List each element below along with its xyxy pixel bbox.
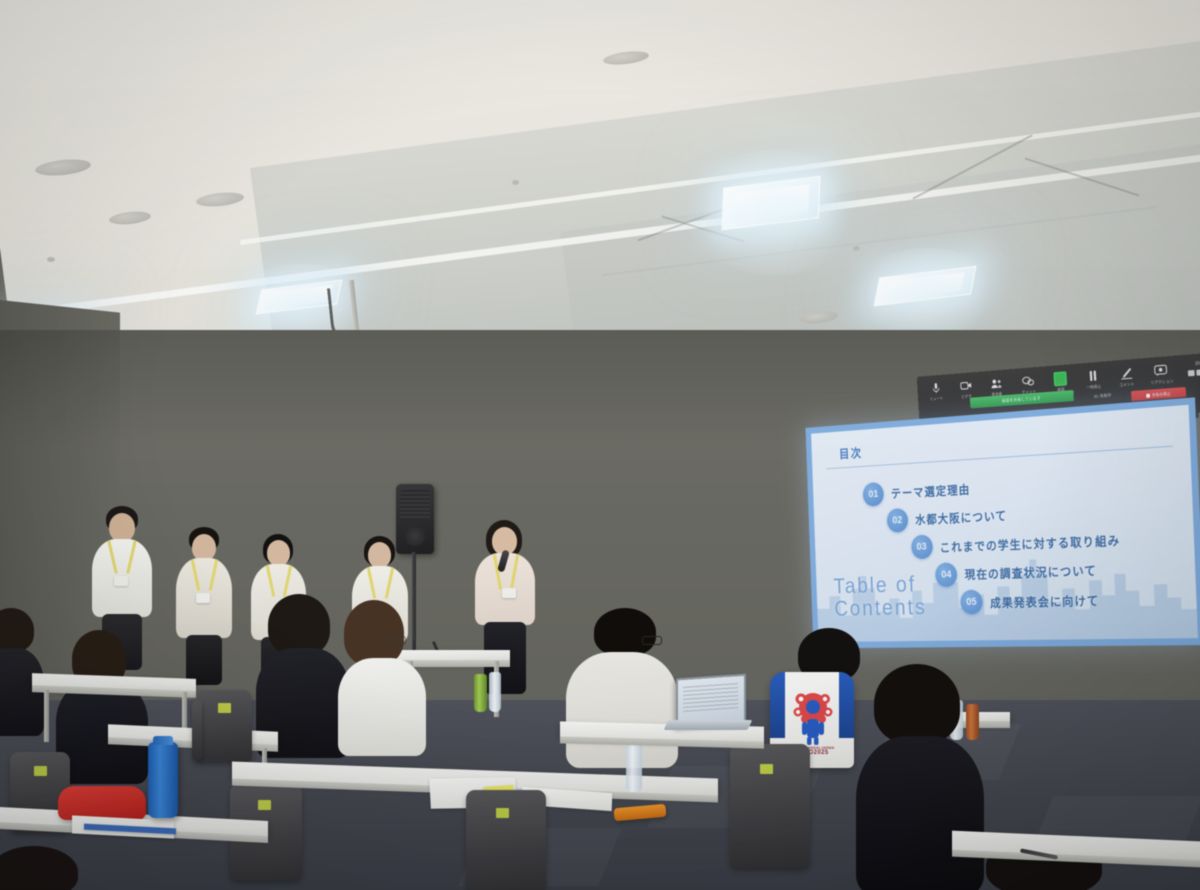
toolbar-pause-button[interactable]: 一時停止 [1081,368,1106,391]
screen-sharing-text: 画面を共有しています [1002,395,1041,404]
toc-item-label: 現在の調査状況について [964,561,1097,583]
water-bottle [489,672,501,712]
eyeglasses-icon [384,636,406,645]
vest-stripe-left [770,672,785,738]
toc-item-label: テーマ選定理由 [891,480,971,502]
toc-number-badge: 03 [911,535,933,560]
eyeglasses-icon [642,636,662,645]
chair-tag [218,703,231,713]
toc-item-05: 05 成果発表会に向けて [960,587,1100,615]
hair [0,608,34,652]
head [192,534,216,561]
toc-item-label: 水都大阪について [915,506,1008,528]
sprinkler-icon [853,246,860,251]
audience-member-8 [0,846,80,890]
name-badge [196,593,210,603]
toolbar-annotate-button[interactable]: コメント [1114,366,1139,389]
toc-item-label: これまでの学生に対する取り組み [939,530,1120,555]
audience-member-left-edge [0,608,46,728]
name-badge [114,576,128,586]
toolbar-more-label: 詳細 [1195,361,1200,367]
sprinkler-icon [47,257,55,262]
toc-item-03: 03 これまでの学生に対する取り組み [911,527,1121,560]
toc-number-badge: 04 [935,562,957,587]
water-bottle [626,744,642,792]
reactions-icon [1154,363,1169,378]
torso [856,736,984,890]
vest-stripe-right [839,672,854,738]
head [267,540,290,566]
laptop-keyboard[interactable] [664,720,753,730]
share-id-text: ID: 共有中 [1094,392,1112,399]
toc-item-label: 成果発表会に向けて [990,590,1100,611]
annotate-icon [1119,366,1133,381]
toolbar-reactions-label: リアクション [1150,379,1174,386]
legs [186,635,222,685]
share-screen-icon [1053,371,1067,385]
myaku-myaku-mascot-icon [792,690,834,746]
audience-member-3 [336,600,428,752]
pause-icon [1086,369,1100,383]
projection-screen: 目次 01 テーマ選定理由 02 水都大阪について 03 これまでの学生に対する… [806,397,1200,648]
toc-item-04: 04 現在の調査状況について [935,557,1097,587]
chat-icon [1021,374,1035,388]
green-tea-bottle [474,674,487,712]
hair [344,600,404,666]
toolbar-reactions-button[interactable]: リアクション [1148,363,1175,386]
hair [874,664,960,744]
chair [192,700,202,760]
blue-thermos [148,742,178,818]
toc-number-badge: 01 [863,481,884,506]
more-dots-icon [1188,369,1200,377]
hair [0,846,78,890]
torso [566,652,678,768]
decor-title-line2: Contents [834,596,927,621]
camera-icon [959,379,972,393]
toc-number-badge: 05 [960,590,983,615]
chair [730,744,810,868]
toc-number-badge: 02 [886,508,908,533]
sprinkler-icon [512,180,519,185]
chair-tag [258,800,271,810]
hair [594,608,656,656]
chair-tag [496,808,509,818]
chair [196,690,252,762]
toolbar-mute-button[interactable]: ミュート [925,381,947,403]
chair [466,790,546,890]
toolbar-annotate-label: コメント [1119,382,1135,388]
seminar-room-photo: ミュート ビデオ 参加者 チャット 画面 [0,0,1200,890]
stop-square-icon [1146,394,1150,398]
hair [268,594,330,656]
toc-item-02: 02 水都大阪について [886,503,1007,533]
chair-tag [34,766,47,776]
chair-tag [760,764,773,774]
slide-content: 目次 01 テーマ選定理由 02 水都大阪について 03 これまでの学生に対する… [811,405,1198,642]
table-leg [44,690,49,742]
toolbar-more-button[interactable]: 詳細 [1187,360,1200,377]
slide-decorative-title: Table of Contents [833,573,927,621]
toolbar-mute-label: ミュート [930,396,944,402]
torso [338,658,426,756]
name-badge [502,588,516,598]
head [368,542,391,568]
head [109,513,135,542]
microphone-icon [930,381,943,395]
toc-item-01: 01 テーマ選定理由 [863,476,971,506]
participants-icon [990,376,1003,390]
audience-member-1 [56,630,152,780]
presenter-2 [174,527,236,679]
